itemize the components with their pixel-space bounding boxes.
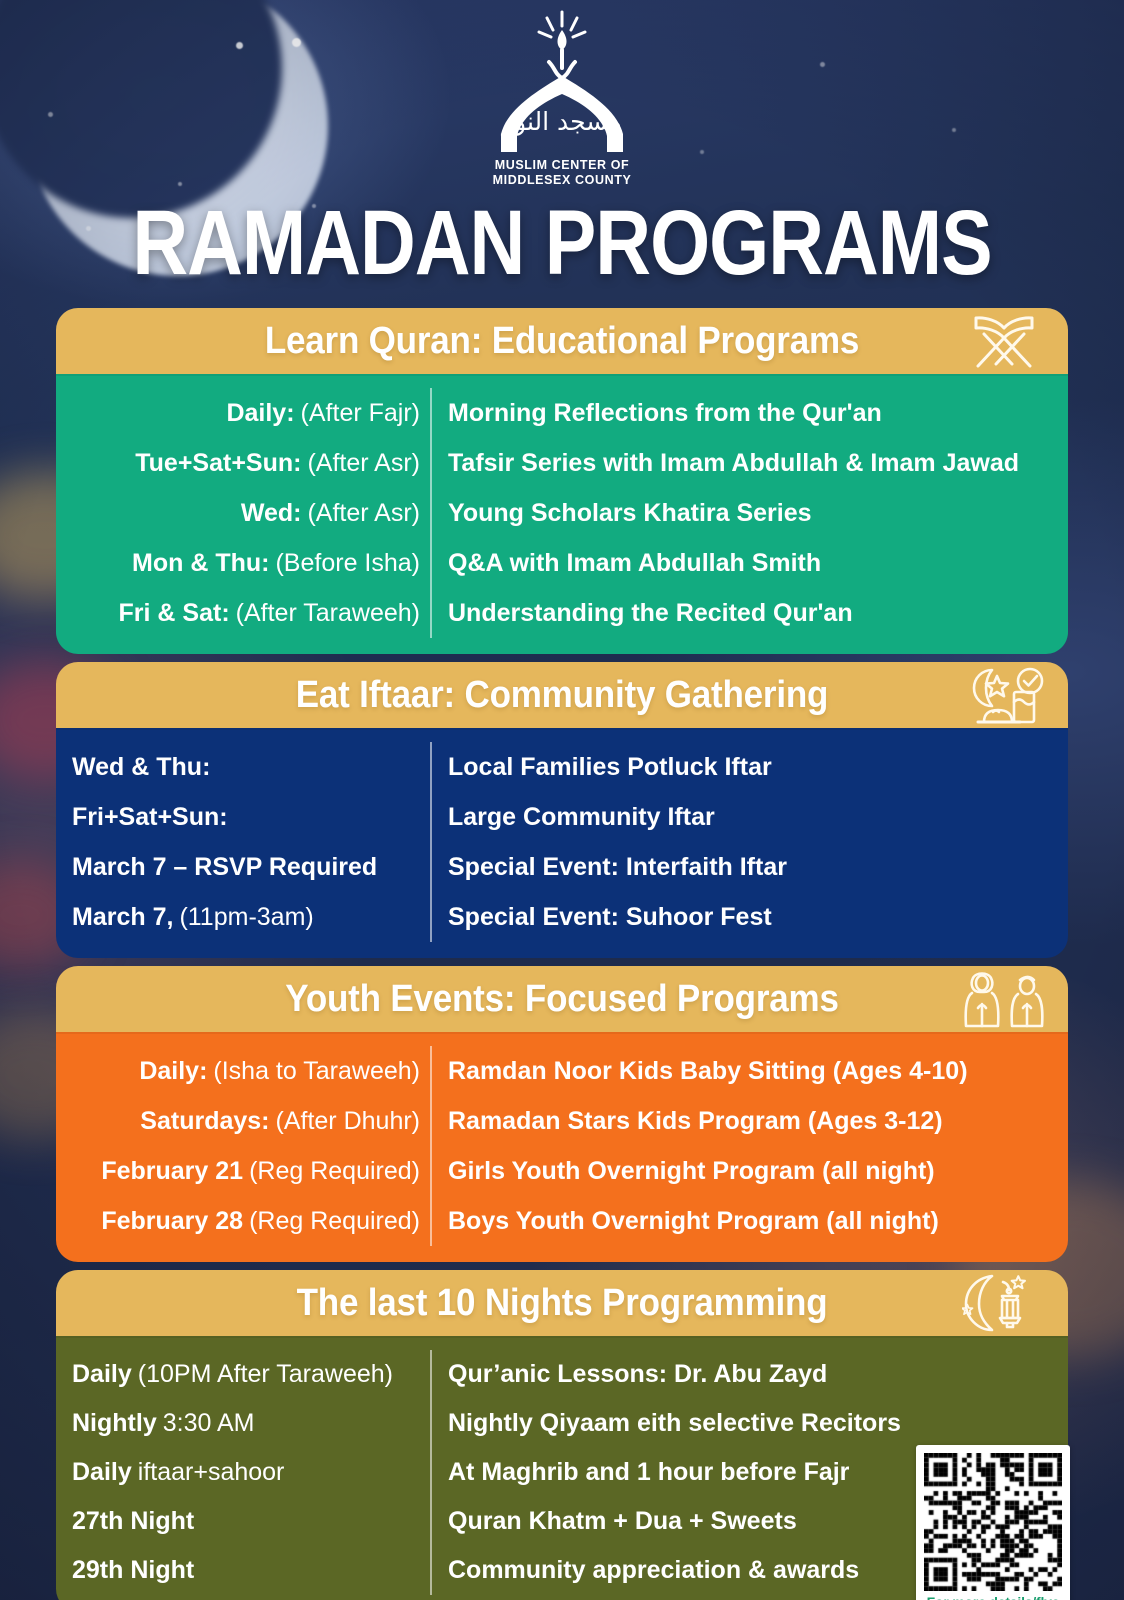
logo-wordmark: MUSLIM CENTER OF MIDDLESEX COUNTY bbox=[493, 158, 632, 188]
row-program: Young Scholars Khatira Series bbox=[448, 499, 812, 528]
table-row: February 28(Reg Required) bbox=[70, 1196, 420, 1246]
qr-caption: For more details/flye bbox=[924, 1591, 1062, 1600]
mosque-dome-icon: مسجد النور bbox=[477, 6, 647, 156]
row-when-bold: March 7, bbox=[72, 903, 173, 932]
row-when-bold: Daily bbox=[72, 1458, 132, 1487]
row-when-light: (After Taraweeh) bbox=[236, 599, 420, 628]
section-body: Daily:(Isha to Taraweeh) Saturdays:(Afte… bbox=[56, 1032, 1068, 1262]
row-when-bold: Daily: bbox=[139, 1057, 207, 1086]
row-when-light: 3:30 AM bbox=[163, 1409, 255, 1438]
section-learn-quran: Learn Quran: Educational Programs Daily:… bbox=[56, 308, 1068, 654]
section-title: Eat Iftaar: Community Gathering bbox=[296, 673, 828, 716]
qr-code-icon[interactable] bbox=[924, 1453, 1062, 1591]
row-when-light: (Reg Required) bbox=[249, 1207, 420, 1236]
section-title: The last 10 Nights Programming bbox=[297, 1281, 828, 1324]
row-when-light: (After Fajr) bbox=[301, 399, 420, 428]
row-when-bold: February 28 bbox=[101, 1207, 243, 1236]
row-program: Special Event: Interfaith Iftar bbox=[448, 853, 787, 882]
row-when-bold: Daily bbox=[72, 1360, 132, 1389]
row-program: At Maghrib and 1 hour before Fajr bbox=[448, 1458, 849, 1487]
row-when-light: (Reg Required) bbox=[249, 1157, 420, 1186]
row-when-light: (After Asr) bbox=[307, 499, 420, 528]
row-when-bold: Tue+Sat+Sun: bbox=[135, 449, 301, 478]
row-when-light: (10PM After Taraweeh) bbox=[138, 1360, 393, 1389]
row-when-bold: February 21 bbox=[101, 1157, 243, 1186]
two-children-praying-icon bbox=[962, 969, 1046, 1029]
table-row: Tafsir Series with Imam Abdullah & Imam … bbox=[448, 438, 1058, 488]
row-when-bold: Saturdays: bbox=[140, 1107, 269, 1136]
section-youth-events: Youth Events: Focused Programs bbox=[56, 966, 1068, 1262]
section-last-10-nights: The last 10 Nights Programming bbox=[56, 1270, 1068, 1600]
row-program: Special Event: Suhoor Fest bbox=[448, 903, 772, 932]
table-row: Daily:(After Fajr) bbox=[70, 388, 420, 438]
row-when-light: (11pm-3am) bbox=[179, 903, 313, 932]
row-program: Quran Khatm + Dua + Sweets bbox=[448, 1507, 797, 1536]
row-program: Ramadan Stars Kids Program (Ages 3-12) bbox=[448, 1107, 943, 1136]
table-row: Morning Reflections from the Qur'an bbox=[448, 388, 1058, 438]
section-body: Wed & Thu: Fri+Sat+Sun: March 7 – RSVP R… bbox=[56, 728, 1068, 958]
row-when-light: (Isha to Taraweeh) bbox=[213, 1057, 420, 1086]
table-row: Nightly3:30 AM bbox=[72, 1399, 420, 1448]
table-row: Special Event: Suhoor Fest bbox=[448, 892, 1058, 942]
table-row: Young Scholars Khatira Series bbox=[448, 488, 1058, 538]
table-row: Nightly Qiyaam eith selective Recitors bbox=[448, 1399, 1058, 1448]
row-when-bold: Wed: bbox=[241, 499, 302, 528]
qr-code-block[interactable]: For more details/flye bbox=[916, 1445, 1070, 1600]
table-row: Fri & Sat:(After Taraweeh) bbox=[70, 588, 420, 638]
table-row: Q&A with Imam Abdullah Smith bbox=[448, 538, 1058, 588]
table-row: Ramadan Stars Kids Program (Ages 3-12) bbox=[448, 1096, 1058, 1146]
row-program: Boys Youth Overnight Program (all night) bbox=[448, 1207, 939, 1236]
row-when-bold: Daily: bbox=[226, 399, 294, 428]
row-program: Nightly Qiyaam eith selective Recitors bbox=[448, 1409, 901, 1438]
row-program: Ramdan Noor Kids Baby Sitting (Ages 4-10… bbox=[448, 1057, 968, 1086]
row-when-light: (After Asr) bbox=[307, 449, 420, 478]
organization-logo: مسجد النور MUSLIM CENTER OF MIDDLESEX CO… bbox=[0, 6, 1124, 188]
row-when-bold: Wed & Thu: bbox=[72, 753, 210, 782]
row-program: Girls Youth Overnight Program (all night… bbox=[448, 1157, 935, 1186]
open-quran-rehal-icon bbox=[962, 311, 1046, 371]
page-title: RAMADAN PROGRAMS bbox=[6, 196, 1119, 288]
table-row: Large Community Iftar bbox=[448, 792, 1058, 842]
row-when-light: (After Dhuhr) bbox=[276, 1107, 420, 1136]
table-row: Saturdays:(After Dhuhr) bbox=[70, 1096, 420, 1146]
table-row: Girls Youth Overnight Program (all night… bbox=[448, 1146, 1058, 1196]
row-when-bold: Fri+Sat+Sun: bbox=[72, 803, 228, 832]
table-row: Boys Youth Overnight Program (all night) bbox=[448, 1196, 1058, 1246]
table-row: Local Families Potluck Iftar bbox=[448, 742, 1058, 792]
row-program: Large Community Iftar bbox=[448, 803, 715, 832]
table-row: Wed & Thu: bbox=[72, 742, 420, 792]
program-column: Local Families Potluck Iftar Large Commu… bbox=[432, 742, 1068, 942]
table-row: 27th Night bbox=[72, 1497, 420, 1546]
program-sections: Learn Quran: Educational Programs Daily:… bbox=[56, 308, 1068, 1600]
ramadan-programs-poster: مسجد النور MUSLIM CENTER OF MIDDLESEX CO… bbox=[0, 0, 1124, 1600]
section-title: Learn Quran: Educational Programs bbox=[265, 319, 859, 362]
table-row: Wed:(After Asr) bbox=[70, 488, 420, 538]
crescent-star-iftar-meal-icon bbox=[962, 665, 1046, 725]
section-title: Youth Events: Focused Programs bbox=[285, 977, 838, 1020]
table-row: Special Event: Interfaith Iftar bbox=[448, 842, 1058, 892]
logo-arabic-text: مسجد النور bbox=[500, 107, 622, 136]
table-row: 29th Night bbox=[72, 1546, 420, 1595]
logo-line-1: MUSLIM CENTER OF bbox=[493, 158, 632, 173]
table-row: Ramdan Noor Kids Baby Sitting (Ages 4-10… bbox=[448, 1046, 1058, 1096]
row-program: Understanding the Recited Qur'an bbox=[448, 599, 853, 628]
section-header: The last 10 Nights Programming bbox=[56, 1270, 1068, 1336]
table-row: March 7 – RSVP Required bbox=[72, 842, 420, 892]
row-when-bold: 27th Night bbox=[72, 1507, 194, 1536]
table-row: February 21(Reg Required) bbox=[70, 1146, 420, 1196]
row-program: Local Families Potluck Iftar bbox=[448, 753, 772, 782]
table-row: March 7,(11pm-3am) bbox=[72, 892, 420, 942]
crescent-lantern-icon bbox=[962, 1273, 1046, 1333]
row-when-light: iftaar+sahoor bbox=[138, 1458, 285, 1487]
schedule-column: Daily:(Isha to Taraweeh) Saturdays:(Afte… bbox=[56, 1046, 432, 1246]
row-program: Community appreciation & awards bbox=[448, 1556, 859, 1585]
table-row: Understanding the Recited Qur'an bbox=[448, 588, 1058, 638]
section-header: Learn Quran: Educational Programs bbox=[56, 308, 1068, 374]
row-when-bold: March 7 – RSVP Required bbox=[72, 853, 377, 882]
section-header: Youth Events: Focused Programs bbox=[56, 966, 1068, 1032]
program-column: Morning Reflections from the Qur'an Tafs… bbox=[432, 388, 1068, 638]
row-when-bold: Mon & Thu: bbox=[132, 549, 269, 578]
section-header: Eat Iftaar: Community Gathering bbox=[56, 662, 1068, 728]
row-program: Morning Reflections from the Qur'an bbox=[448, 399, 882, 428]
row-program: Q&A with Imam Abdullah Smith bbox=[448, 549, 821, 578]
table-row: Qur’anic Lessons: Dr. Abu Zayd bbox=[448, 1350, 1058, 1399]
row-program: Tafsir Series with Imam Abdullah & Imam … bbox=[448, 449, 1019, 478]
row-when-bold: Nightly bbox=[72, 1409, 157, 1438]
table-row: Fri+Sat+Sun: bbox=[72, 792, 420, 842]
table-row: Dailyiftaar+sahoor bbox=[72, 1448, 420, 1497]
row-program: Qur’anic Lessons: Dr. Abu Zayd bbox=[448, 1360, 827, 1389]
row-when-light: (Before Isha) bbox=[275, 549, 420, 578]
logo-line-2: MIDDLESEX COUNTY bbox=[493, 173, 632, 188]
schedule-column: Daily(10PM After Taraweeh) Nightly3:30 A… bbox=[56, 1350, 432, 1595]
program-column: Ramdan Noor Kids Baby Sitting (Ages 4-10… bbox=[432, 1046, 1068, 1246]
section-body: Daily:(After Fajr) Tue+Sat+Sun:(After As… bbox=[56, 374, 1068, 654]
table-row: Mon & Thu:(Before Isha) bbox=[70, 538, 420, 588]
section-eat-iftaar: Eat Iftaar: Community Gathering bbox=[56, 662, 1068, 958]
schedule-column: Daily:(After Fajr) Tue+Sat+Sun:(After As… bbox=[56, 388, 432, 638]
row-when-bold: Fri & Sat: bbox=[119, 599, 230, 628]
schedule-column: Wed & Thu: Fri+Sat+Sun: March 7 – RSVP R… bbox=[56, 742, 432, 942]
table-row: Daily:(Isha to Taraweeh) bbox=[70, 1046, 420, 1096]
table-row: Tue+Sat+Sun:(After Asr) bbox=[70, 438, 420, 488]
table-row: Daily(10PM After Taraweeh) bbox=[72, 1350, 420, 1399]
row-when-bold: 29th Night bbox=[72, 1556, 194, 1585]
